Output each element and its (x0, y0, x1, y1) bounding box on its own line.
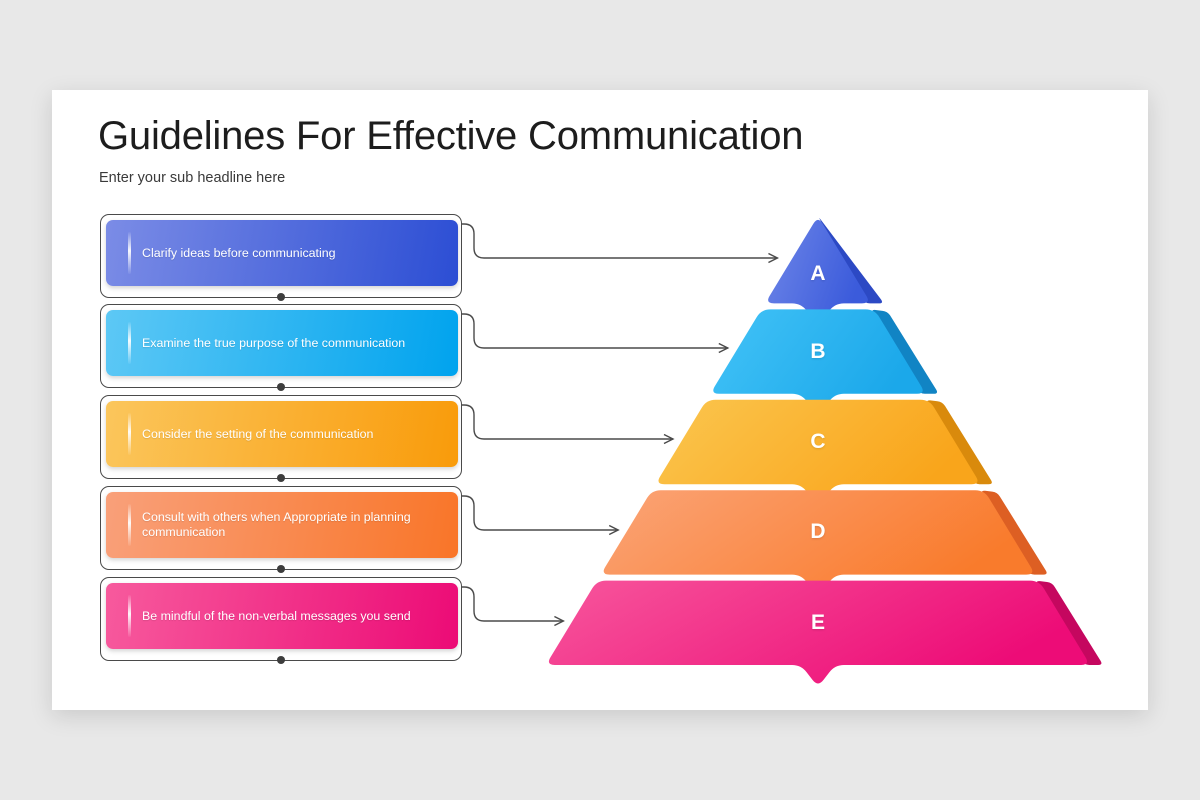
pyramid-tier-label-b: B (810, 340, 825, 364)
pyramid-tier-label-d: D (810, 520, 825, 544)
pyramid-tier-label-a: A (810, 262, 825, 286)
pyramid-tier-e[interactable] (549, 581, 1102, 684)
pyramid-tier-label-c: C (810, 430, 825, 454)
slide-canvas: Guidelines For Effective Communication E… (52, 90, 1148, 710)
pyramid-tier-label-e: E (811, 611, 825, 635)
pyramid-diagram: ABCDE (52, 90, 1148, 710)
